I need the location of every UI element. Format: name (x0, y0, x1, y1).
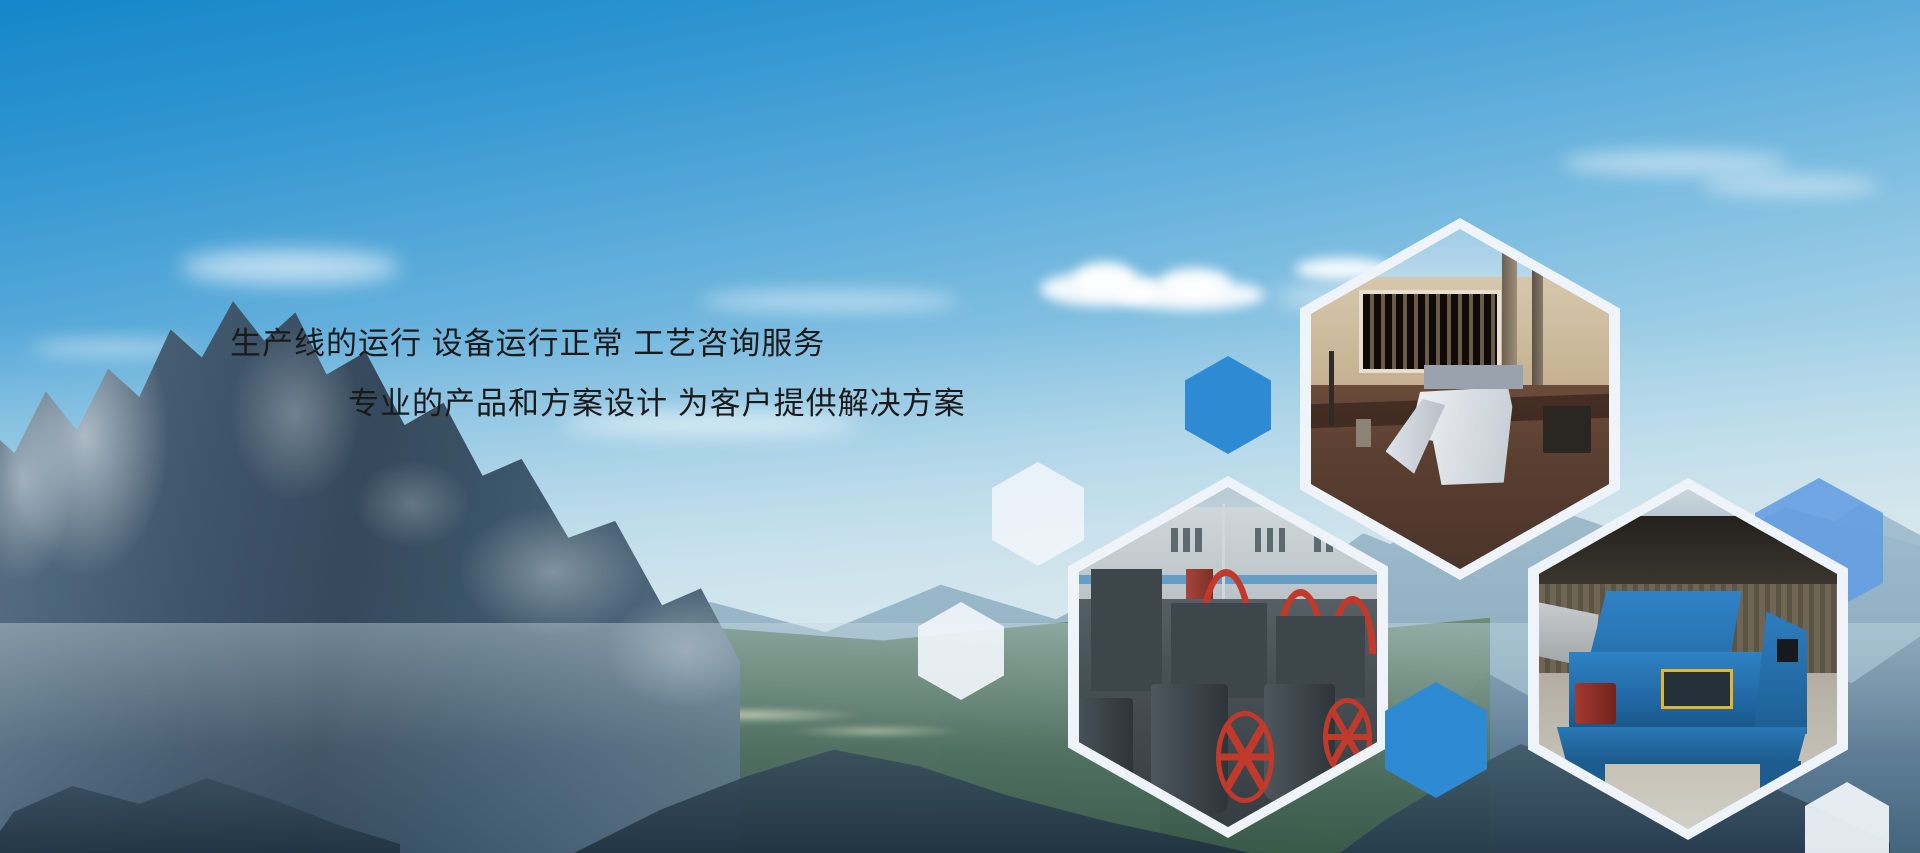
page-title: 生产线的运行 设备运行正常 工艺咨询服务 专业的产品和方案设计 为客户提供解决方… (230, 328, 1090, 419)
factory-window (1314, 528, 1321, 552)
cloud-icon (1160, 268, 1230, 298)
red-handwheel (1216, 711, 1274, 803)
lamp-pole (1329, 351, 1334, 426)
red-motor (1575, 683, 1617, 724)
hex-photo-casting-ladle-image (1311, 229, 1609, 569)
factory-window (1255, 528, 1262, 552)
hex-photo-press-line-image (1079, 487, 1377, 827)
headline-line-2: 专业的产品和方案设计 为客户提供解决方案 (348, 388, 1090, 419)
press-frame (1091, 569, 1163, 691)
factory-window (1183, 528, 1190, 552)
barred-window (1359, 290, 1501, 373)
yellow-inspection-window (1661, 669, 1733, 709)
headline-line-1: 生产线的运行 设备运行正常 工艺咨询服务 (230, 328, 1090, 359)
cloud-icon (180, 250, 400, 284)
hero-banner: 生产线的运行 设备运行正常 工艺咨询服务 专业的产品和方案设计 为客户提供解决方… (0, 0, 1920, 853)
factory-window (1267, 528, 1274, 552)
factory-window (1171, 528, 1178, 552)
building-pillar (1532, 249, 1544, 385)
bucket (1356, 419, 1371, 446)
cloud-icon (1700, 175, 1880, 197)
dark-crate (1543, 406, 1591, 454)
shredder-base-frame (1557, 727, 1807, 764)
cloud-icon (700, 290, 960, 312)
casting-ladle-rim (1424, 365, 1522, 389)
factory-window (1195, 528, 1202, 552)
hex-photo-blue-shredder-image (1539, 489, 1837, 829)
cloud-icon (1560, 150, 1790, 176)
cabinet-window (1777, 639, 1798, 663)
factory-window (1279, 528, 1286, 552)
